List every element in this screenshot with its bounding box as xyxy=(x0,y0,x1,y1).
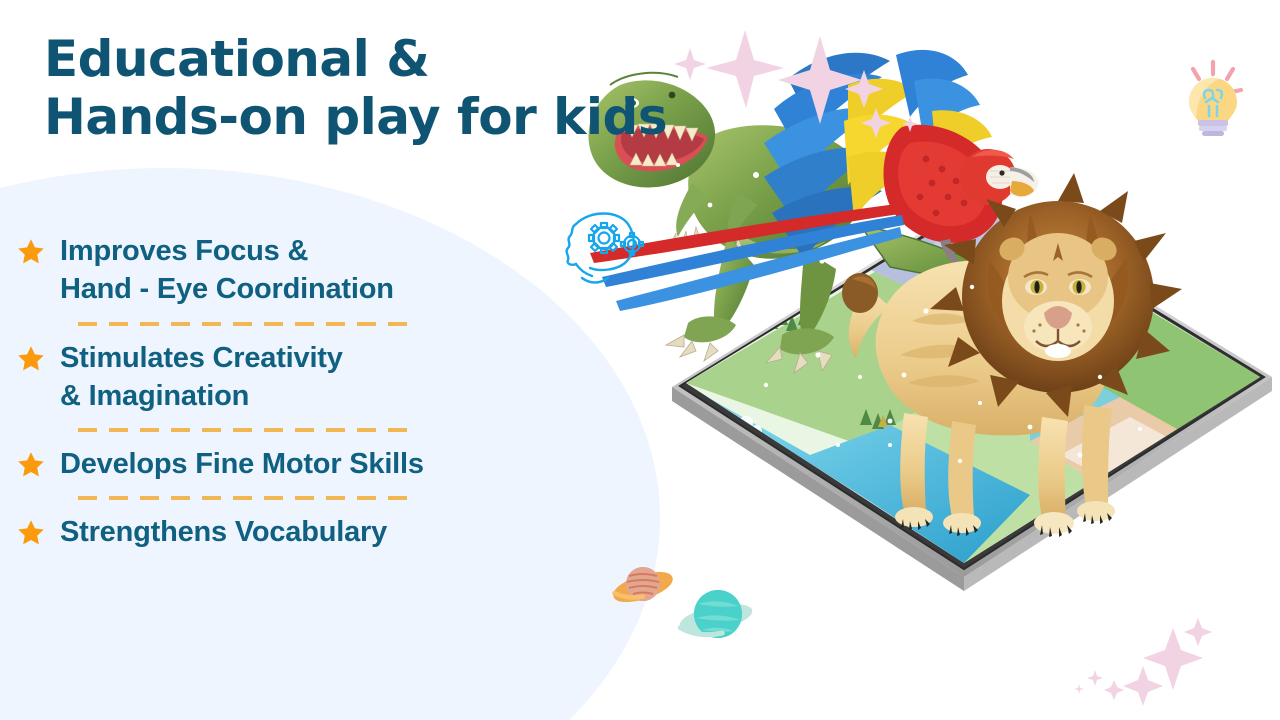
benefit-label: Strengthens Vocabulary xyxy=(60,513,387,551)
benefit-item-1: Improves Focus & Hand - Eye Coordination xyxy=(16,232,576,309)
benefit-label: Develops Fine Motor Skills xyxy=(60,445,424,483)
star-icon xyxy=(16,518,46,548)
benefit-divider xyxy=(78,496,414,500)
star-icon xyxy=(16,344,46,374)
lightbulb-icon xyxy=(1175,58,1251,143)
benefit-item-4: Strengthens Vocabulary xyxy=(16,513,576,551)
benefit-item-2: Stimulates Creativity & Imagination xyxy=(16,339,576,416)
benefit-divider xyxy=(78,428,414,432)
benefit-label: Improves Focus & Hand - Eye Coordination xyxy=(60,232,394,309)
star-icon xyxy=(16,237,46,267)
benefit-divider xyxy=(78,322,414,326)
benefit-item-3: Develops Fine Motor Skills xyxy=(16,445,576,483)
poster-canvas: Educational & Hands-on play for kids Imp… xyxy=(0,0,1280,720)
page-title: Educational & Hands-on play for kids xyxy=(44,30,667,146)
sparkle-stars-bottom xyxy=(1055,588,1280,720)
sparkle-stars-top xyxy=(660,18,930,173)
star-icon xyxy=(16,450,46,480)
benefit-label: Stimulates Creativity & Imagination xyxy=(60,339,343,416)
saturn-planet-icon xyxy=(612,560,674,617)
teal-planet-icon xyxy=(676,580,756,651)
benefits-list: Improves Focus & Hand - Eye Coordination… xyxy=(16,232,576,552)
